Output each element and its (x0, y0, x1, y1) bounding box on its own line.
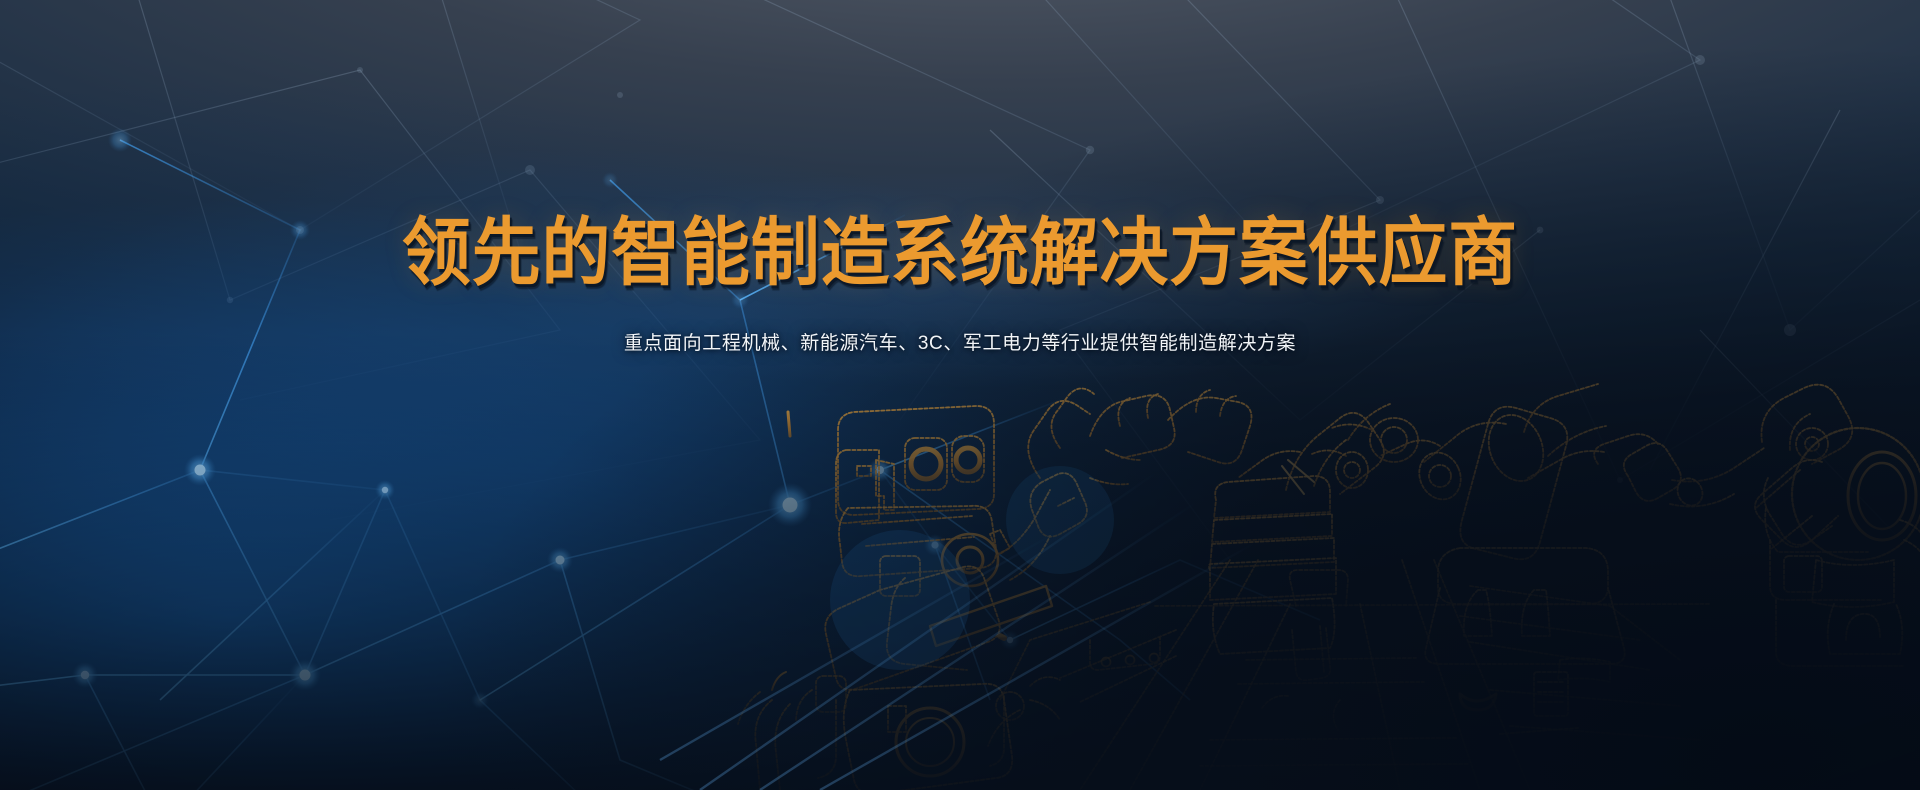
hero-banner: 领先的智能制造系统解决方案供应商 重点面向工程机械、新能源汽车、3C、军工电力等… (0, 0, 1920, 790)
page-subtitle: 重点面向工程机械、新能源汽车、3C、军工电力等行业提供智能制造解决方案 (0, 328, 1920, 355)
page-title: 领先的智能制造系统解决方案供应商 (67, 214, 1853, 292)
vignette (0, 0, 1920, 790)
hero-text-block: 领先的智能制造系统解决方案供应商 重点面向工程机械、新能源汽车、3C、军工电力等… (0, 214, 1920, 355)
